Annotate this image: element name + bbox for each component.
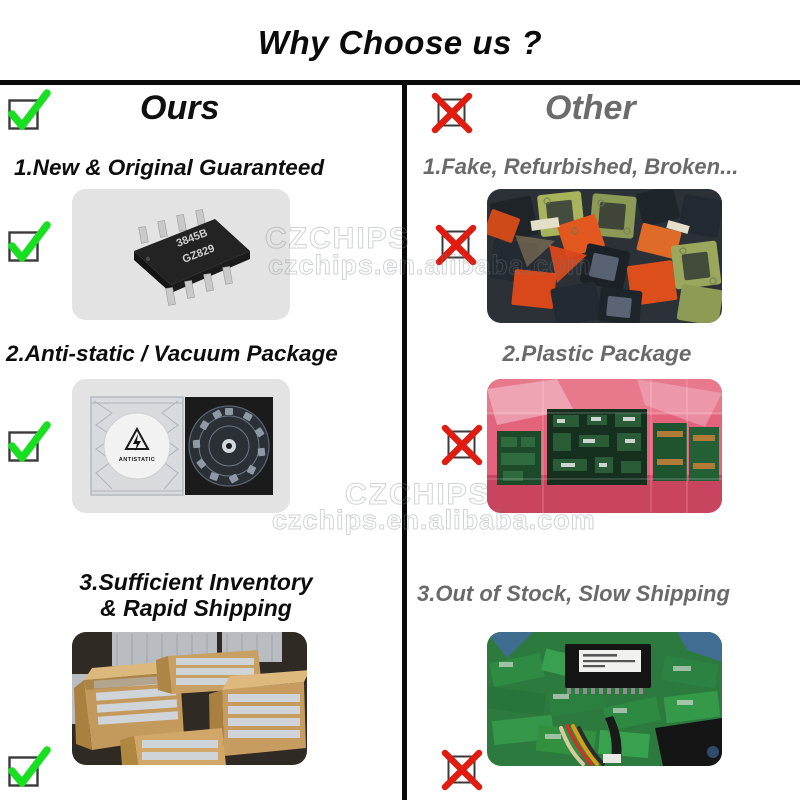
- red-cross-icon: [442, 423, 484, 465]
- red-cross-icon: [442, 748, 484, 790]
- feature-other-2-title: 2.Plastic Package: [407, 341, 787, 366]
- column-other: Other 1.Fake, Refurbished, Broken...: [407, 83, 800, 800]
- feature-ours-2-title: 2.Anti-static / Vacuum Package: [6, 341, 398, 366]
- photo-original-sop8-ic: 3845B GZ829: [72, 189, 290, 320]
- feature-other-3: 3.Out of Stock, Slow Shipping: [407, 570, 800, 800]
- photo-antistatic-vacuum-package: ANTISTATIC: [72, 379, 290, 513]
- feature-ours-1: 1.New & Original Guaranteed: [0, 155, 402, 355]
- svg-text:ANTISTATIC: ANTISTATIC: [119, 457, 155, 463]
- page-title: Why Choose us ?: [0, 24, 800, 62]
- feature-other-2: 2.Plastic Package: [407, 341, 800, 551]
- feature-other-3-title: 3.Out of Stock, Slow Shipping: [417, 582, 797, 607]
- feature-other-1: 1.Fake, Refurbished, Broken...: [407, 155, 800, 355]
- photo-pink-plastic-bag-boards: [487, 379, 722, 513]
- feature-ours-3: 3.Sufficient Inventory & Rapid Shipping: [0, 570, 402, 800]
- why-choose-us-panel: Why Choose us ? Ours 1.New & Original Gu…: [0, 0, 800, 800]
- feature-other-1-title: 1.Fake, Refurbished, Broken...: [423, 155, 800, 180]
- green-check-icon: [6, 223, 48, 265]
- column-header-other: Other: [407, 87, 800, 143]
- feature-ours-3-title-line1: 3.Sufficient Inventory: [79, 569, 312, 595]
- photo-scrap-bga-chips: [487, 189, 722, 323]
- photo-cartons-stocked-inventory: [72, 632, 307, 765]
- feature-ours-3-title: 3.Sufficient Inventory & Rapid Shipping: [0, 570, 392, 622]
- column-header-other-label: Other: [545, 89, 636, 128]
- green-check-icon: [6, 91, 48, 133]
- feature-ours-1-title: 1.New & Original Guaranteed: [14, 155, 394, 180]
- photo-green-pcb-scrap-pile: [487, 632, 722, 766]
- column-header-ours-label: Ours: [140, 89, 219, 128]
- feature-ours-3-title-line2: & Rapid Shipping: [100, 595, 292, 621]
- green-check-icon: [6, 423, 48, 465]
- feature-ours-2: 2.Anti-static / Vacuum Package: [0, 341, 402, 551]
- red-cross-icon: [436, 223, 478, 265]
- column-header-ours: Ours: [0, 87, 402, 143]
- column-ours: Ours 1.New & Original Guaranteed: [0, 83, 402, 800]
- green-check-icon: [6, 748, 48, 790]
- red-cross-icon: [432, 91, 474, 133]
